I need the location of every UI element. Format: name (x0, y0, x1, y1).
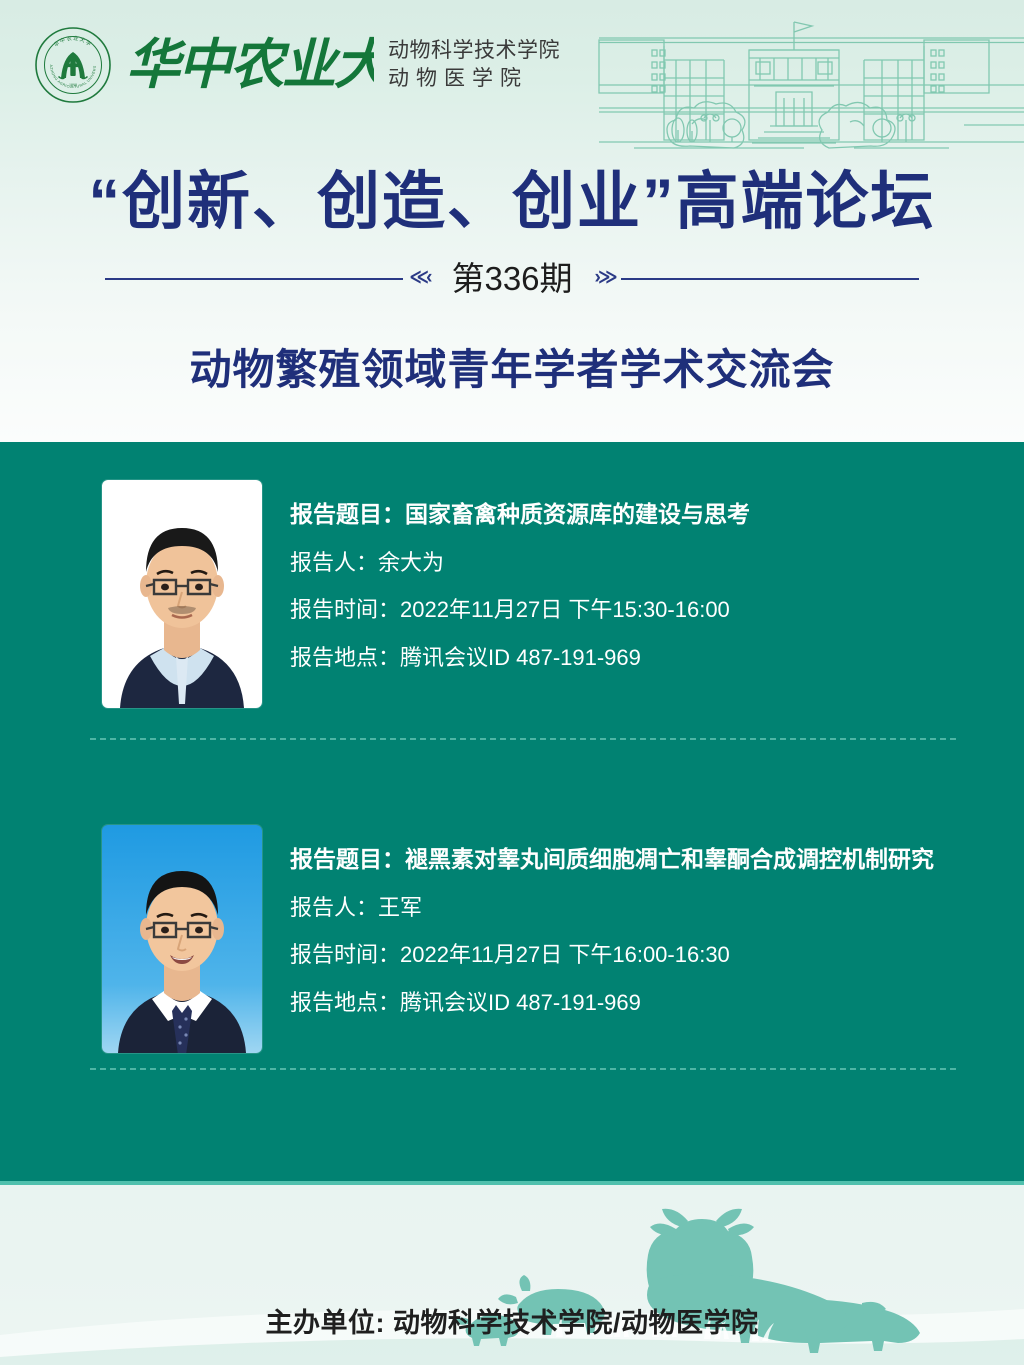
talk-venue: 报告地点：腾讯会议ID 487-191-969 (290, 989, 934, 1018)
page-subtitle: 动物繁殖领域青年学者学术交流会 (0, 336, 1024, 397)
college-line-1: 动物科学技术学院 (388, 38, 560, 64)
talk-time: 报告时间：2022年11月27日 下午16:00-16:30 (290, 941, 934, 970)
issue-number: 第336期 (435, 262, 588, 295)
divider-rule-left (105, 278, 403, 280)
issue-divider: ≪‹ 第336期 ›≫ (0, 262, 1024, 295)
talk-item: 报告题目：国家畜禽种质资源库的建设与思考 报告人：余大为 报告时间：2022年1… (0, 480, 1024, 708)
brand-header: 华中农业大学 HUAZHONG AGRICULTURAL UNIVERSITY … (0, 0, 1024, 130)
talk-speaker: 报告人：王军 (290, 894, 934, 923)
svg-text:HUAZHONG AGRICULTURAL UNIVERSI: HUAZHONG AGRICULTURAL UNIVERSITY (34, 26, 97, 89)
college-line-2: 动物医学院 (388, 66, 560, 92)
college-names: 动物科学技术学院 动物医学院 (388, 38, 560, 91)
university-name-glyphs: 华中农业大学 (126, 35, 374, 95)
talk-speaker: 报告人：余大为 (290, 549, 750, 578)
top-banner: 华中农业大学 HUAZHONG AGRICULTURAL UNIVERSITY … (0, 0, 1024, 442)
divider-rule-right (621, 278, 919, 280)
poster-root: 华中农业大学 HUAZHONG AGRICULTURAL UNIVERSITY … (0, 0, 1024, 1365)
talks-section: 报告题目：国家畜禽种质资源库的建设与思考 报告人：余大为 报告时间：2022年1… (0, 442, 1024, 1185)
university-seal-icon: 华中农业大学 HUAZHONG AGRICULTURAL UNIVERSITY … (34, 26, 112, 104)
talk-title: 报告题目：褪黑素对睾丸间质细胞凋亡和睾酮合成调控机制研究 (290, 845, 934, 875)
svg-text:1898: 1898 (69, 83, 77, 88)
section-divider (90, 1068, 956, 1070)
university-name: 华中农业大学 (126, 30, 374, 100)
chevron-left-icon: ≪‹ (403, 268, 435, 287)
talk-venue: 报告地点：腾讯会议ID 487-191-969 (290, 644, 750, 673)
talk-title: 报告题目：国家畜禽种质资源库的建设与思考 (290, 500, 750, 530)
talk-time: 报告时间：2022年11月27日 下午15:30-16:00 (290, 596, 750, 625)
speaker-portrait (102, 480, 262, 708)
talk-details: 报告题目：褪黑素对睾丸间质细胞凋亡和睾酮合成调控机制研究 报告人：王军 报告时间… (290, 825, 934, 1018)
section-divider (90, 738, 956, 740)
chevron-right-icon: ›≫ (589, 268, 621, 287)
speaker-portrait (102, 825, 262, 1053)
organizer-label: 主办单位: 动物科学技术学院/动物医学院 (0, 1301, 1024, 1340)
talk-item: 报告题目：褪黑素对睾丸间质细胞凋亡和睾酮合成调控机制研究 报告人：王军 报告时间… (0, 825, 1024, 1053)
page-title: “创新、创造、创业”高端论坛 (0, 168, 1024, 237)
talk-details: 报告题目：国家畜禽种质资源库的建设与思考 报告人：余大为 报告时间：2022年1… (290, 480, 750, 673)
